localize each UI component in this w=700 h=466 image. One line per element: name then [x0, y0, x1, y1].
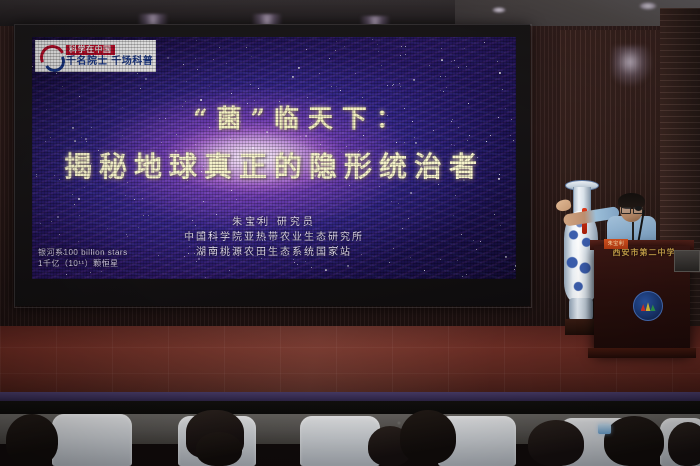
- projection-screen: 科学在中国 千名院士 千场科普 “菌”临天下： 揭秘地球真正的隐形统治者 朱宝利…: [32, 37, 516, 279]
- slide-footnote-line-2: 1千亿（10¹¹）颗恒星: [38, 258, 128, 269]
- presenter-affiliation-1: 中国科学院亚热带农业生态研究所: [32, 230, 516, 245]
- vase-wooden-stand: [565, 319, 597, 335]
- wall-sconce-4: [612, 46, 652, 86]
- slide-footnote-line-1: 银河系100 billion stars: [38, 247, 128, 258]
- microphone-head-icon: [635, 206, 642, 211]
- podium-name-plate: 朱宝利: [604, 239, 628, 249]
- ceiling-lamp-1: [492, 7, 506, 13]
- presenter-name: 朱宝利 研究员: [32, 215, 516, 230]
- audience-head: [604, 416, 664, 466]
- slide-title-line-1: “菌”临天下：: [32, 99, 516, 135]
- audience-head: [668, 422, 700, 466]
- stage-monitor-speaker: [674, 250, 700, 272]
- cs-swirl-logo-icon: [38, 43, 64, 70]
- list-item[interactable]: [52, 414, 132, 466]
- crest-mountain-mark: [641, 301, 656, 311]
- audience-phone-screen: [598, 424, 611, 434]
- slide-title-line-2: 揭秘地球真正的隐形统治者: [32, 145, 516, 185]
- audience-head: [400, 410, 456, 464]
- logo-red-band-text: 科学在中国: [66, 45, 115, 55]
- audience-head: [528, 420, 584, 466]
- auditorium-scene: 科学在中国 千名院士 千场科普 “菌”临天下： 揭秘地球真正的隐形统治者 朱宝利…: [0, 0, 700, 466]
- slide-logo-banner: 科学在中国 千名院士 千场科普: [35, 40, 156, 72]
- ceiling-lamp-2: [639, 2, 657, 10]
- speaker-lanyard: [632, 222, 634, 240]
- podium-base: [588, 348, 696, 358]
- slide-footnote: 银河系100 billion stars 1千亿（10¹¹）颗恒星: [38, 247, 128, 269]
- school-crest-icon: [633, 291, 663, 321]
- logo-blue-text: 千名院士 千场科普: [66, 57, 153, 67]
- audience-head: [6, 414, 58, 466]
- audience-head: [196, 432, 242, 466]
